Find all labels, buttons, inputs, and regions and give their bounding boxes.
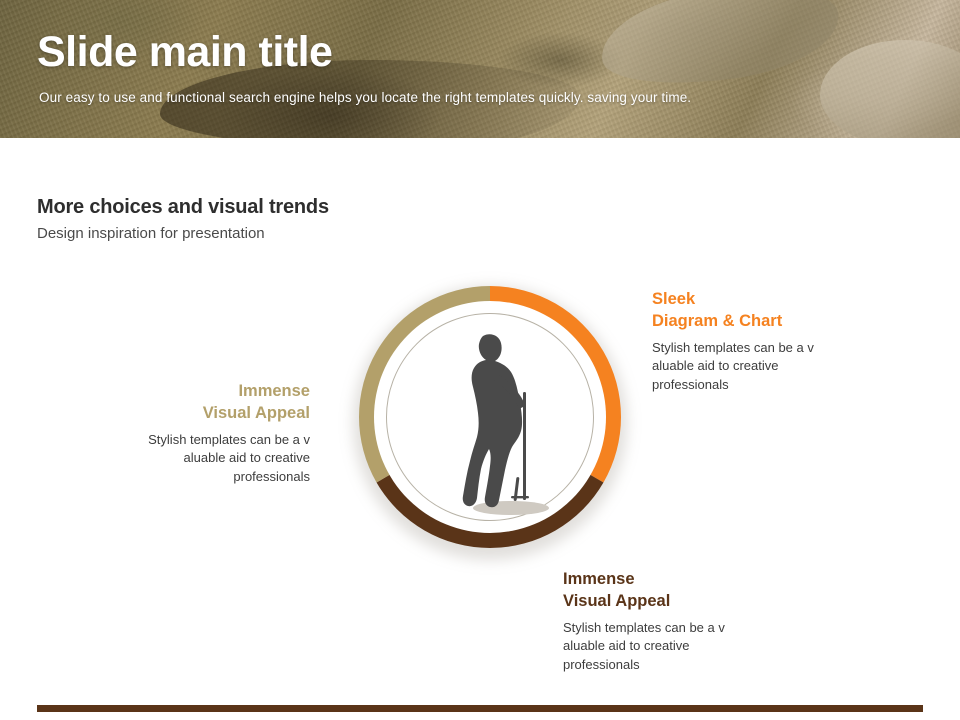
callout-immense-bottom-body: Stylish templates can be a v aluable aid… bbox=[563, 619, 813, 676]
footer-edge bbox=[0, 712, 960, 720]
donut-chart bbox=[345, 272, 635, 562]
slide: Slide main title Our easy to use and fun… bbox=[0, 0, 960, 720]
callout-immense-bottom[interactable]: Immense Visual Appeal Stylish templates … bbox=[563, 568, 813, 675]
section-title: More choices and visual trends bbox=[37, 196, 329, 219]
callout-immense-left-body: Stylish templates can be a v aluable aid… bbox=[100, 431, 310, 488]
callout-immense-left-title: Immense Visual Appeal bbox=[100, 380, 310, 425]
section-subtitle: Design inspiration for presentation bbox=[37, 225, 265, 242]
callout-immense-bottom-title: Immense Visual Appeal bbox=[563, 568, 813, 613]
callout-sleek-body: Stylish templates can be a v aluable aid… bbox=[652, 339, 887, 396]
slide-main-title: Slide main title bbox=[37, 30, 332, 75]
hiker-silhouette-icon bbox=[427, 330, 557, 520]
callout-sleek-title: Sleek Diagram & Chart bbox=[652, 288, 887, 333]
slide-subtitle: Our easy to use and functional search en… bbox=[39, 90, 691, 105]
callout-immense-left[interactable]: Immense Visual Appeal Stylish templates … bbox=[100, 380, 310, 487]
callout-sleek[interactable]: Sleek Diagram & Chart Stylish templates … bbox=[652, 288, 887, 395]
header-banner: Slide main title Our easy to use and fun… bbox=[0, 0, 960, 138]
footer-accent-bar bbox=[37, 705, 923, 712]
